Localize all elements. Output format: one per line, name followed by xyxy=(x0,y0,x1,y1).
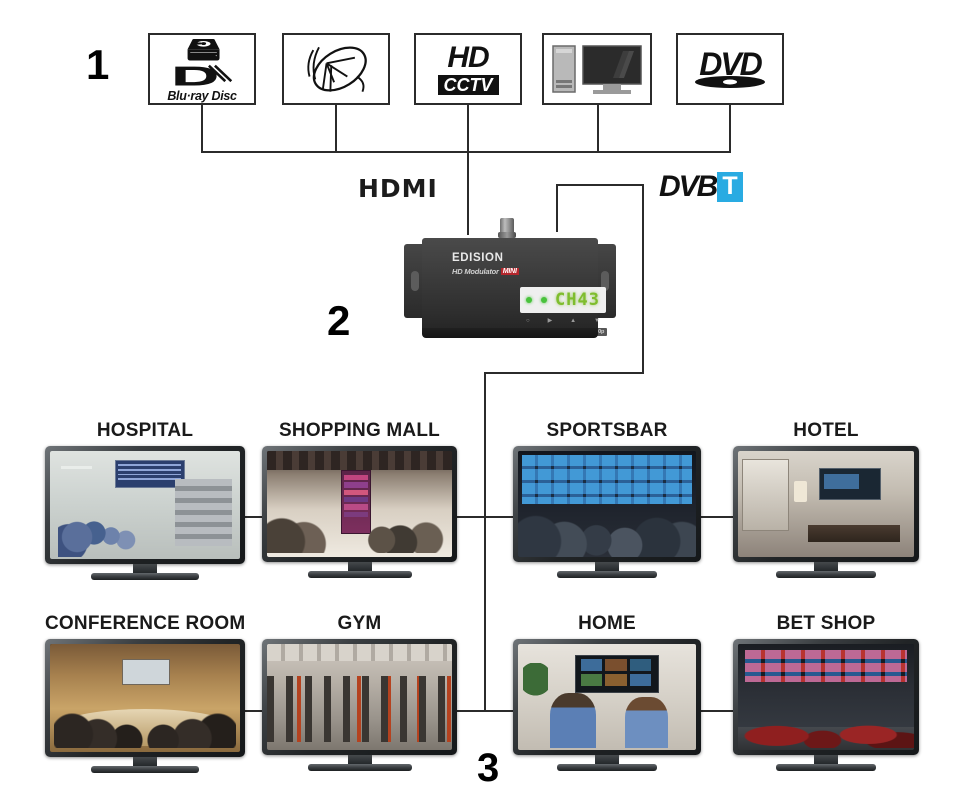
dvd-icon: DVD xyxy=(695,50,765,88)
wire-dvd-drop xyxy=(729,105,731,153)
tv-screen-hotel xyxy=(738,451,914,557)
tv-frame-hospital xyxy=(45,446,245,564)
wire-sportsbar-hotel xyxy=(698,516,734,518)
tv-screen-shopping-mall xyxy=(267,451,452,557)
source-box-dvd: DVD xyxy=(676,33,784,105)
device-base xyxy=(422,328,598,338)
blu-ray-symbol xyxy=(163,64,241,88)
wire-gym-spine xyxy=(452,710,486,712)
channel-display: CH43 xyxy=(555,290,600,310)
step-marker-2: 2 xyxy=(327,300,350,342)
wire-coax-up xyxy=(556,186,558,232)
hd-label: HD xyxy=(447,43,488,73)
tv-label-hospital: HOSPITAL xyxy=(45,420,245,442)
menu-button[interactable]: ○ xyxy=(526,318,530,324)
wire-coax-top xyxy=(556,184,644,186)
tv-neck-bet-shop xyxy=(814,755,838,764)
tv-label-bet-shop: BET SHOP xyxy=(733,613,919,635)
tv-neck-sportsbar xyxy=(595,562,619,571)
signal-led xyxy=(541,297,547,303)
tv-screen-gym xyxy=(267,644,452,750)
wire-source-bus xyxy=(201,151,731,153)
down-button[interactable]: ▼ xyxy=(594,318,600,324)
tv-frame-home xyxy=(513,639,701,755)
tv-frame-shopping-mall xyxy=(262,446,457,562)
tv-label-hotel: HOTEL xyxy=(733,420,919,442)
wire-computer-drop xyxy=(597,105,599,153)
hdmi-logo: HDMI xyxy=(358,174,438,203)
wire-rf-right-down xyxy=(642,184,644,374)
tv-neck-conference-room xyxy=(133,757,157,766)
tv-stand-hotel xyxy=(776,571,876,578)
tv-neck-hospital xyxy=(133,564,157,573)
device-model-suffix: MINI xyxy=(501,268,519,275)
dvbt-logo: DVB T xyxy=(659,172,743,202)
coax-connector xyxy=(500,218,514,234)
tv-neck-gym xyxy=(348,755,372,764)
tv-screen-conference-room xyxy=(50,644,240,752)
wire-home-betshop xyxy=(698,710,734,712)
satellite-dish-icon xyxy=(284,35,388,103)
tv-frame-hotel xyxy=(733,446,919,562)
step-marker-3: 3 xyxy=(477,748,499,788)
source-box-satellite xyxy=(282,33,390,105)
tv-stand-home xyxy=(557,764,657,771)
dvd-disc-shape xyxy=(695,76,765,88)
tv-stand-bet-shop xyxy=(776,764,876,771)
wire-rf-spine xyxy=(484,372,486,712)
wire-hdmi-to-device xyxy=(467,151,469,235)
tv-screen-bet-shop xyxy=(738,644,914,750)
tv-stand-conference-room xyxy=(91,766,199,773)
tv-label-gym: GYM xyxy=(262,613,457,635)
tv-screen-sportsbar xyxy=(518,451,696,557)
source-box-computer xyxy=(542,33,652,105)
tv-neck-shopping-mall xyxy=(348,562,372,571)
wire-hd-cctv-drop xyxy=(467,105,469,153)
cctv-label: CCTV xyxy=(438,75,499,95)
blu-ray-label: Blu·ray Disc xyxy=(167,89,236,103)
tv-stand-sportsbar xyxy=(557,571,657,578)
right-button[interactable]: ▶ xyxy=(548,317,553,324)
device-model: HD Modulator MINI xyxy=(452,267,519,276)
tv-screen-hospital xyxy=(50,451,240,559)
tv-neck-home xyxy=(595,755,619,764)
hd-cctv-icon: HD CCTV xyxy=(438,43,499,95)
tv-label-conference-room: CONFERENCE ROOM xyxy=(45,613,245,635)
tv-label-sportsbar: SPORTSBAR xyxy=(513,420,701,442)
source-box-blu-ray: 🖴b Blu·ray Disc xyxy=(148,33,256,105)
tv-frame-gym xyxy=(262,639,457,755)
blu-ray-icon: 🖴b Blu·ray Disc xyxy=(150,35,254,103)
tv-frame-sportsbar xyxy=(513,446,701,562)
tv-screen-home xyxy=(518,644,696,750)
tv-stand-hospital xyxy=(91,573,199,580)
dvb-t-label: T xyxy=(717,172,742,202)
computer-icon xyxy=(545,38,649,100)
tv-label-shopping-mall: SHOPPING MALL xyxy=(262,420,457,442)
diagram-canvas: 1 2 3 🖴b Blu·ray Disc HD CCTV xyxy=(0,0,960,793)
dvd-label: DVD xyxy=(699,50,761,79)
up-button[interactable]: ▲ xyxy=(570,318,576,324)
wire-blu-ray-drop xyxy=(201,105,203,153)
step-marker-1: 1 xyxy=(86,44,109,86)
tv-label-home: HOME xyxy=(513,613,701,635)
device-button-row[interactable]: ○ ▶ ▲ ▼ xyxy=(526,316,600,325)
dvb-label: DVB xyxy=(659,172,716,202)
source-box-hd-cctv: HD CCTV xyxy=(414,33,522,105)
tv-stand-shopping-mall xyxy=(308,571,412,578)
device-brand: EDISION xyxy=(452,252,504,264)
wire-rf-across xyxy=(484,372,644,374)
wire-mall-spine xyxy=(452,516,486,518)
tv-stand-gym xyxy=(308,764,412,771)
device-model-text: HD Modulator xyxy=(452,267,499,276)
tv-neck-hotel xyxy=(814,562,838,571)
power-led xyxy=(526,297,532,303)
hd-modulator-device: EDISION HD Modulator MINI CH43 ○ ▶ ▲ ▼ D… xyxy=(404,232,616,342)
device-body: EDISION HD Modulator MINI CH43 ○ ▶ ▲ ▼ D… xyxy=(422,238,598,334)
wire-satellite-drop xyxy=(335,105,337,153)
device-front-panel: CH43 xyxy=(520,287,606,313)
tv-frame-bet-shop xyxy=(733,639,919,755)
tv-frame-conference-room xyxy=(45,639,245,757)
